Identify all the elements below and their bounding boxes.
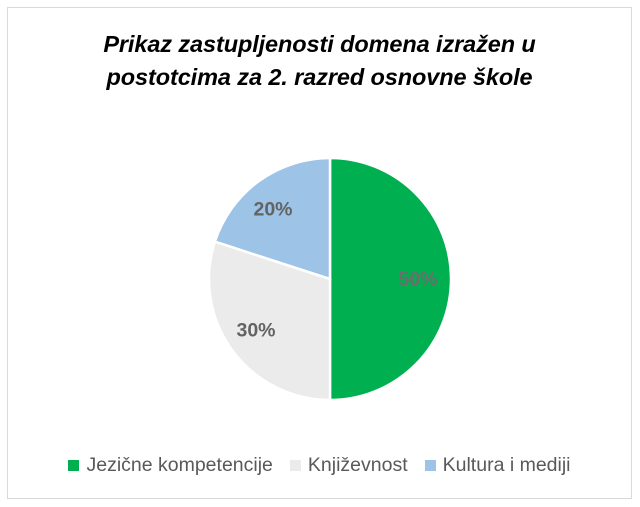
pie-plot-area: 50% 30% 20%: [8, 8, 633, 500]
legend-item-kultura-i-mediji[interactable]: Kultura i mediji: [425, 455, 571, 476]
legend-label-knjizevnost: Književnost: [308, 455, 408, 476]
pie-data-label-jezicne-kompetencije: 50%: [398, 269, 437, 292]
chart-frame: Prikaz zastupljenosti domena izražen u p…: [7, 7, 632, 499]
pie-chart-svg: [8, 8, 633, 500]
legend-item-jezicne-kompetencije[interactable]: Jezične kompetencije: [68, 455, 272, 476]
legend-swatch-icon-kultura-i-mediji: [425, 460, 436, 471]
legend-item-knjizevnost[interactable]: Književnost: [290, 455, 408, 476]
legend-label-jezicne-kompetencije: Jezične kompetencije: [86, 455, 272, 476]
legend-label-kultura-i-mediji: Kultura i mediji: [443, 455, 571, 476]
legend-swatch-icon-jezicne-kompetencije: [68, 460, 79, 471]
legend-swatch-icon-knjizevnost: [290, 460, 301, 471]
chart-legend: Jezične kompetencije Književnost Kultura…: [8, 455, 631, 476]
pie-data-label-kultura-i-mediji: 20%: [253, 199, 292, 222]
pie-data-label-knjizevnost: 30%: [236, 320, 275, 343]
